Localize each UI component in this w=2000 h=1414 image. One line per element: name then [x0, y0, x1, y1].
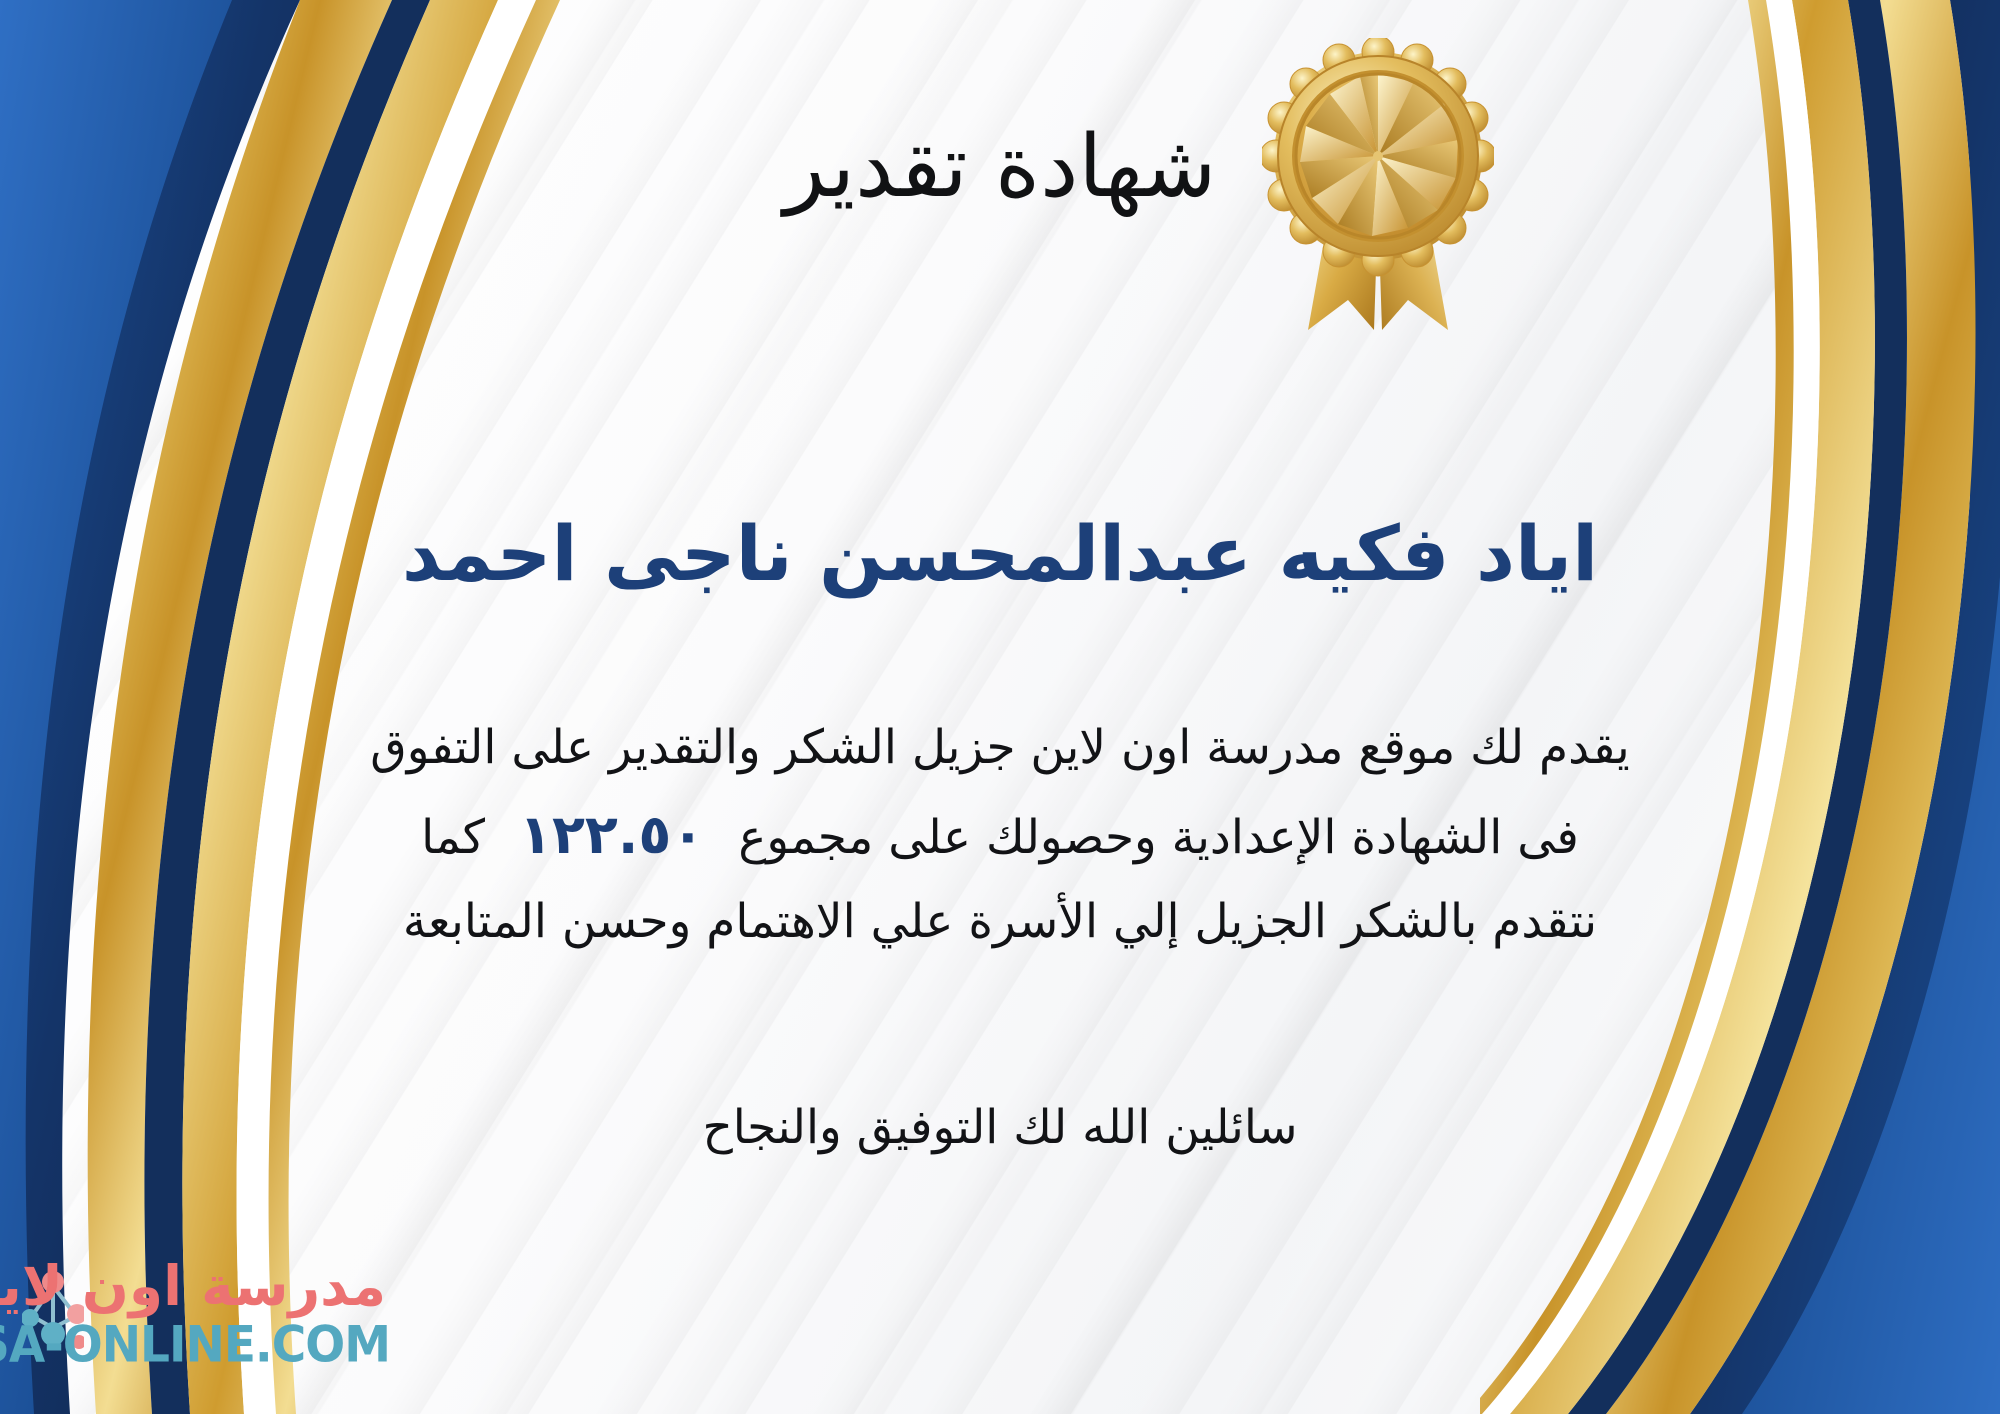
body-line-3: نتقدم بالشكر الجزيل إلي الأسرة علي الاهت… — [60, 882, 1940, 963]
certificate-title: شهادة تقدير — [0, 118, 2000, 217]
body-line-2: فى الشهادة الإعدادية وحصولك على مجموع١٢٢… — [60, 789, 1940, 882]
brand-website-url: MADRSA-ONLINE.COM — [0, 1316, 390, 1374]
brand-arabic-name: مدرسة اون لاين — [0, 1254, 386, 1318]
body-line-2-prefix: فى الشهادة الإعدادية وحصولك على مجموع — [738, 810, 1579, 865]
certificate-body: يقدم لك موقع مدرسة اون لاين جزيل الشكر و… — [60, 708, 1940, 963]
body-line-2-suffix: كما — [421, 810, 485, 865]
total-score-value: ١٢٢.٥٠ — [485, 803, 738, 866]
recipient-name: اياد فكيه عبدالمحسن ناجى احمد — [0, 508, 2000, 599]
closing-line: سائلين الله لك التوفيق والنجاح — [0, 1100, 2000, 1155]
brand-logo[interactable]: مدرسة اون لاين MADRSA-ONLINE.COM — [22, 1250, 452, 1390]
certificate-canvas: شهادة تقدير اياد فكيه عبدالمحسن ناجى احم… — [0, 0, 2000, 1414]
body-line-1: يقدم لك موقع مدرسة اون لاين جزيل الشكر و… — [60, 708, 1940, 789]
